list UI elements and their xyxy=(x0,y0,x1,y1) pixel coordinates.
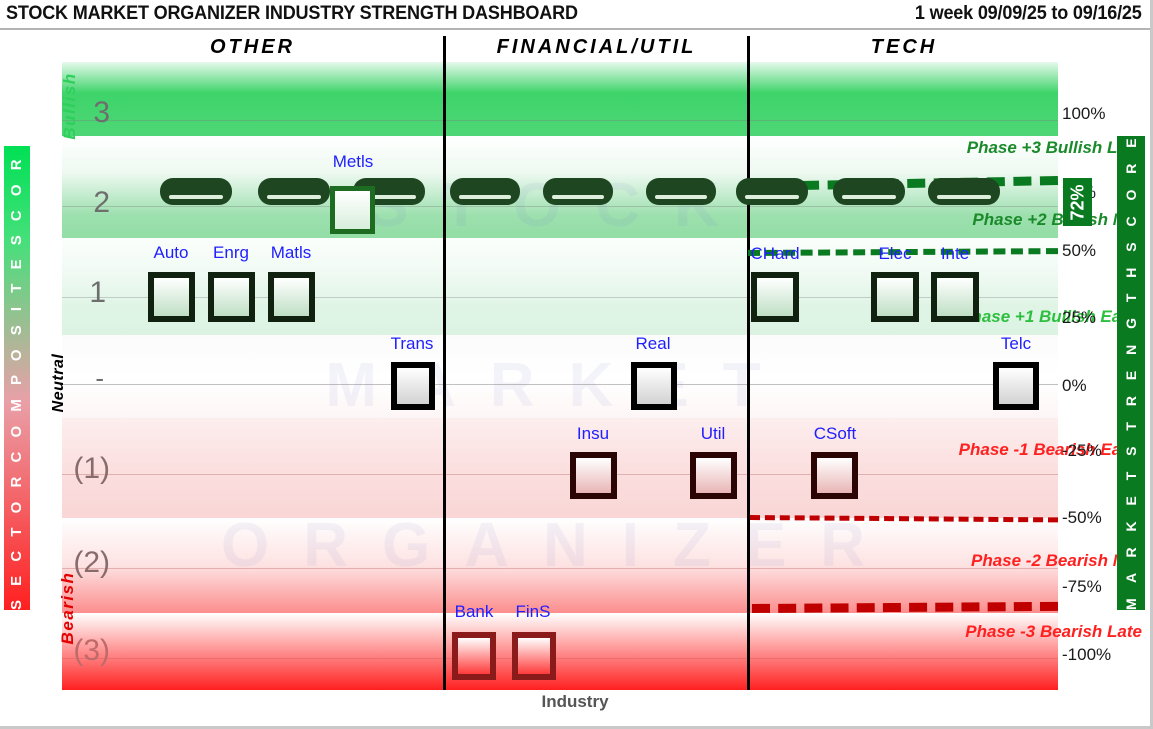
gridline-neg1 xyxy=(62,474,1058,475)
marker-label-util: Util xyxy=(673,424,753,444)
pct-tick-50: 50% xyxy=(1062,241,1096,261)
marker-box-matls[interactable] xyxy=(268,272,315,322)
marker-box-auto[interactable] xyxy=(148,272,195,322)
group-header-other: OTHER xyxy=(62,36,443,59)
pct-tick-neg50: -50% xyxy=(1062,508,1102,528)
marker-box-trans[interactable] xyxy=(391,362,435,410)
gridline-0 xyxy=(62,384,1058,385)
score-tick-neg3: (3) xyxy=(46,634,110,668)
marker-pill-fin-3[interactable] xyxy=(646,178,716,205)
zone-label-bearish: Bearish xyxy=(58,558,78,658)
marker-pill-tech-1[interactable] xyxy=(736,178,808,205)
marker-label-csoft: CSoft xyxy=(793,424,877,444)
phase-note-plus3: Phase +3 Bullish Late xyxy=(967,138,1142,158)
marker-box-chard[interactable] xyxy=(751,272,799,322)
marker-label-real: Real xyxy=(613,334,693,354)
pct-tick-neg25: -25% xyxy=(1062,441,1102,461)
gridline-2 xyxy=(62,206,1058,207)
gridline-neg3 xyxy=(62,658,1058,659)
marker-pill-tech-3[interactable] xyxy=(928,178,1000,205)
phase-note-minus3: Phase -3 Bearish Late xyxy=(965,622,1142,642)
marker-box-util[interactable] xyxy=(690,452,737,499)
group-divider-1 xyxy=(443,36,446,690)
marker-label-insu: Insu xyxy=(553,424,633,444)
marker-box-real[interactable] xyxy=(631,362,677,410)
zone-label-neutral: Neutral xyxy=(49,333,69,433)
pct-tick-100: 100% xyxy=(1062,104,1105,124)
marker-box-elec[interactable] xyxy=(871,272,919,322)
current-value-badge: 72% xyxy=(1063,178,1092,226)
marker-label-telc: Telc xyxy=(976,334,1056,354)
left-axis-banner: S E C T O R C O M P O S I T E S C O R E xyxy=(4,146,30,610)
left-axis-banner-label: S E C T O R C O M P O S I T E S C O R E xyxy=(4,146,30,610)
marker-label-fins: FinS xyxy=(493,602,573,622)
marker-box-fins[interactable] xyxy=(512,632,556,680)
pct-tick-0: 0% xyxy=(1062,376,1087,396)
marker-pill-other-1[interactable] xyxy=(160,178,232,205)
score-tick-2: 2 xyxy=(64,186,110,220)
current-value-badge-label: 72% xyxy=(1063,178,1092,226)
marker-box-bank[interactable] xyxy=(452,632,496,680)
gridline-layer xyxy=(62,62,1058,690)
marker-box-insu[interactable] xyxy=(570,452,617,499)
pct-tick-neg100: -100% xyxy=(1062,645,1111,665)
title-bar: STOCK MARKET ORGANIZER INDUSTRY STRENGTH… xyxy=(0,0,1150,30)
marker-label-trans: Trans xyxy=(372,334,452,354)
page-title: STOCK MARKET ORGANIZER INDUSTRY STRENGTH… xyxy=(6,3,578,25)
dashboard-root: STOCK MARKET ORGANIZER INDUSTRY STRENGTH… xyxy=(0,0,1153,729)
x-axis-label: Industry xyxy=(0,692,1150,712)
marker-box-csoft[interactable] xyxy=(811,452,858,499)
marker-label-matls: Matls xyxy=(251,243,331,263)
group-header-tech: TECH xyxy=(750,36,1058,59)
pct-tick-25: 25% xyxy=(1062,308,1096,328)
gridline-neg2 xyxy=(62,568,1058,569)
score-tick-neg2: (2) xyxy=(46,546,110,580)
marker-pill-other-2[interactable] xyxy=(258,178,330,205)
marker-pill-fin-1[interactable] xyxy=(450,178,520,205)
group-divider-2 xyxy=(747,36,750,690)
phase-note-minus1: Phase -1 Bearish Early xyxy=(959,440,1142,460)
score-tick-1: 1 xyxy=(60,276,106,310)
pct-tick-neg75: -75% xyxy=(1062,577,1102,597)
marker-box-enrg[interactable] xyxy=(208,272,255,322)
marker-label-metls: Metls xyxy=(313,152,393,172)
marker-box-telc[interactable] xyxy=(993,362,1039,410)
gridline-3 xyxy=(62,120,1058,121)
marker-box-metls[interactable] xyxy=(330,186,375,234)
marker-pill-tech-2[interactable] xyxy=(833,178,905,205)
marker-box-inte[interactable] xyxy=(931,272,979,322)
marker-label-inte: Inte xyxy=(915,244,995,264)
score-tick-neg1: (1) xyxy=(46,452,110,486)
zone-label-bullish: Bullish xyxy=(60,56,80,156)
marker-pill-fin-2[interactable] xyxy=(543,178,613,205)
right-axis-banner-label: M A R K E T S T R E N G T H S C O R E xyxy=(1117,136,1145,610)
group-header-financial: FINANCIAL/UTIL xyxy=(446,36,747,59)
date-range-label: 1 week 09/09/25 to 09/16/25 xyxy=(915,3,1142,25)
marker-label-chard: CHard xyxy=(734,244,816,264)
phase-note-plus1: Phase +1 Bullish Early xyxy=(960,307,1142,327)
right-axis-banner: M A R K E T S T R E N G T H S C O R E xyxy=(1117,136,1145,610)
